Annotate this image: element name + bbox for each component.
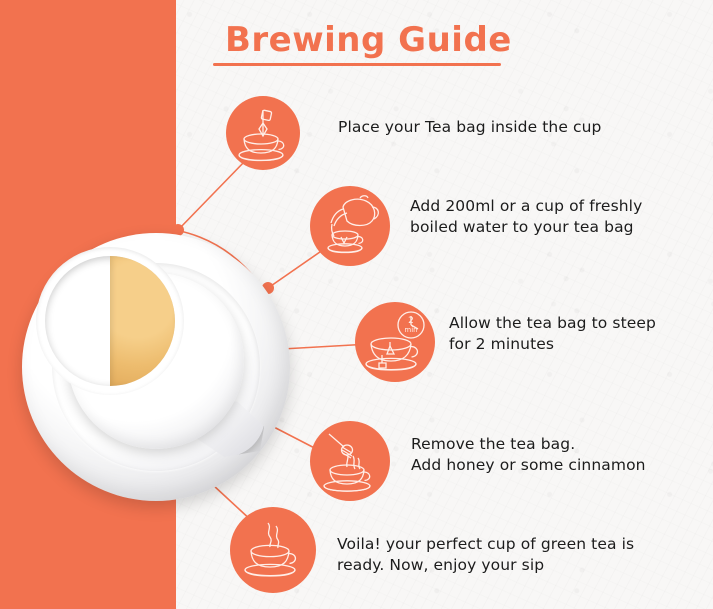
step-5-text: Voila! your perfect cup of green tea is … bbox=[337, 534, 697, 576]
step-4-icon-circle[interactable] bbox=[310, 421, 390, 501]
step-2-icon-circle[interactable] bbox=[310, 186, 390, 266]
step-4-text: Remove the tea bag. Add honey or some ci… bbox=[411, 434, 701, 476]
brewing-guide-infographic: Brewing Guide Place your Tea bag inside … bbox=[0, 0, 713, 609]
teacup-photo bbox=[22, 233, 290, 501]
spoke-1 bbox=[178, 160, 246, 230]
timer-minutes-unit: min bbox=[404, 326, 417, 334]
title-underline bbox=[213, 63, 501, 66]
brewed-tea bbox=[110, 256, 175, 386]
step-5-icon-circle[interactable] bbox=[230, 507, 316, 593]
teapot-pouring-icon bbox=[317, 193, 383, 259]
cup-contents bbox=[45, 256, 175, 386]
honey-dipper-cup-icon bbox=[317, 428, 383, 494]
page-title: Brewing Guide bbox=[225, 20, 512, 60]
step-1-text: Place your Tea bag inside the cup bbox=[338, 117, 688, 138]
step-3-text: Allow the tea bag to steep for 2 minutes bbox=[449, 313, 709, 355]
teabag-in-cup-icon bbox=[233, 103, 293, 163]
step-1-icon-circle[interactable] bbox=[226, 96, 300, 170]
steep-timer-icon: 2 min bbox=[361, 308, 429, 376]
timer-minutes-value: 2 bbox=[408, 316, 414, 326]
step-2-text: Add 200ml or a cup of freshly boiled wat… bbox=[410, 196, 700, 238]
step-3-icon-circle[interactable]: 2 min bbox=[355, 302, 435, 382]
dry-tea-leaves bbox=[45, 256, 110, 386]
steaming-cup-icon bbox=[238, 515, 308, 585]
